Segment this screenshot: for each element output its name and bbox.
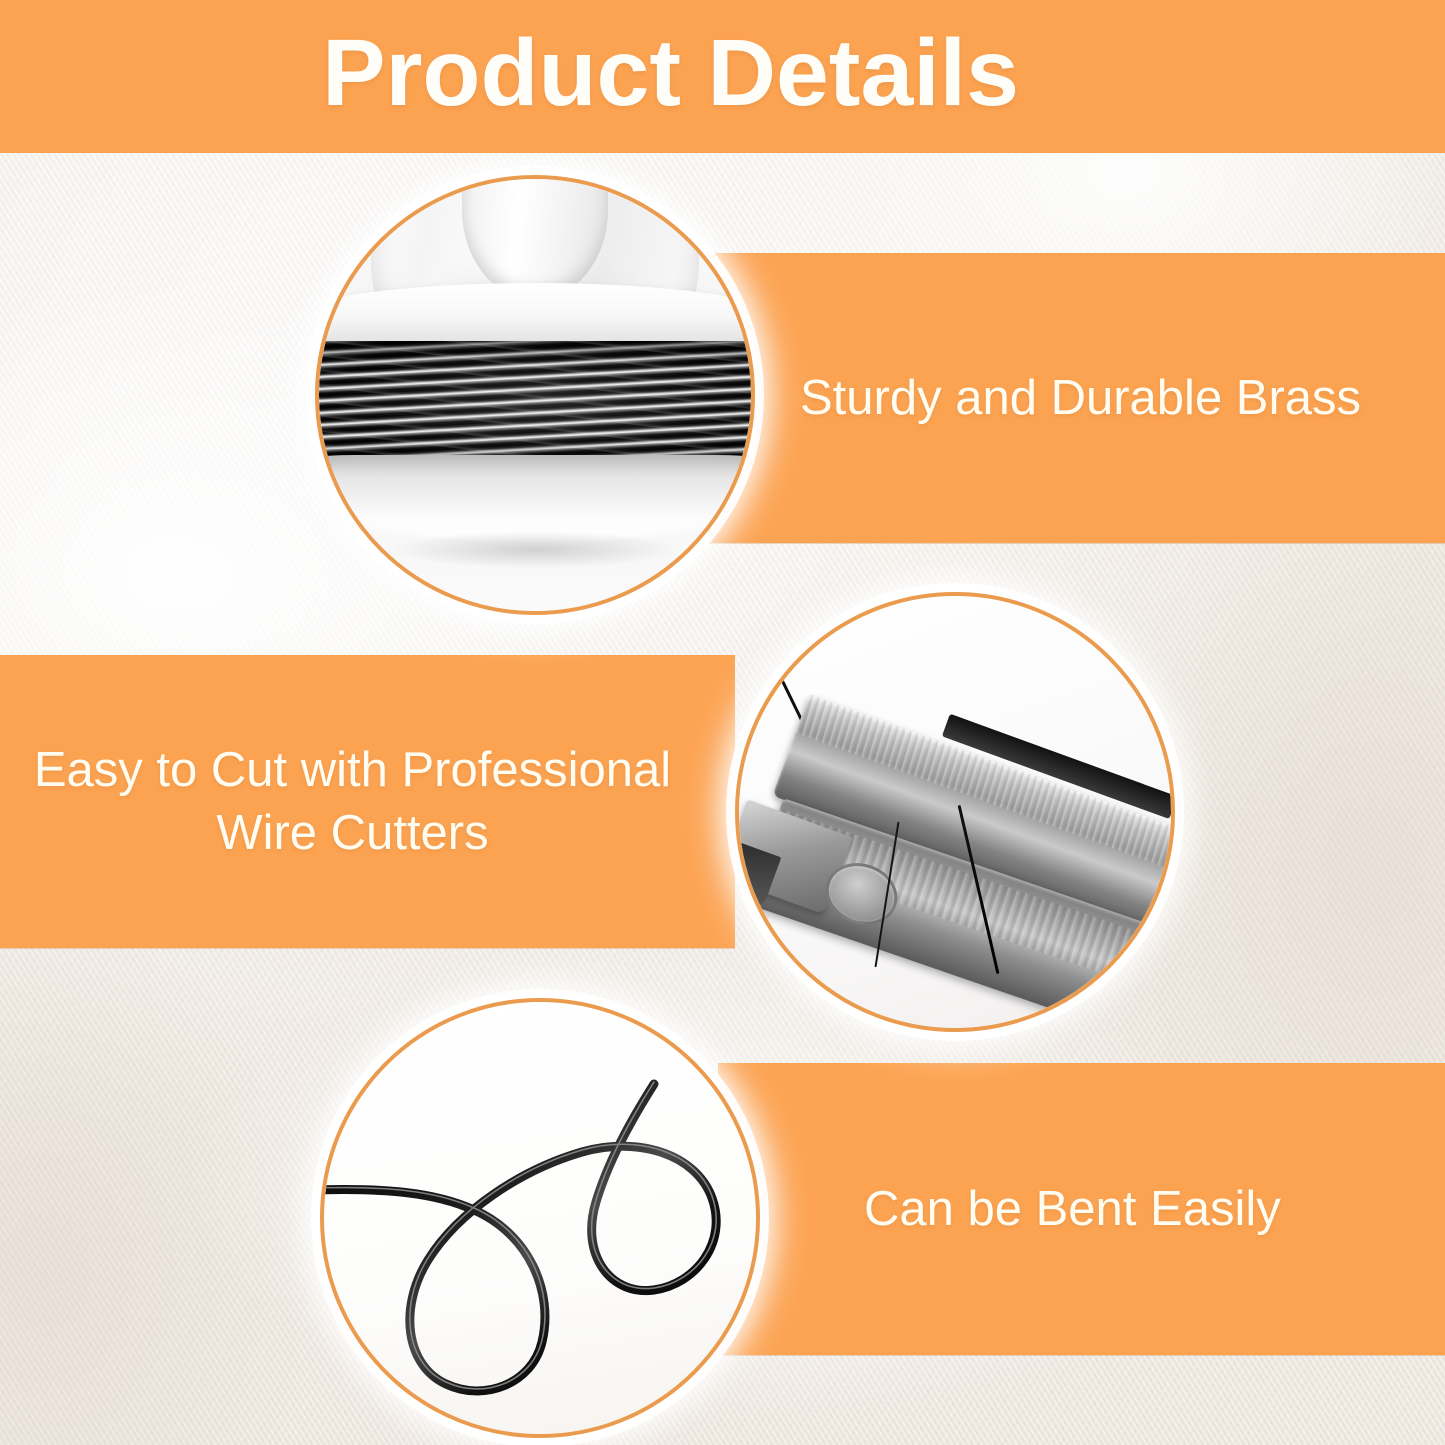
feature-label-easy-to-cut-line1: Easy to Cut with Professional <box>34 739 671 802</box>
feature-banner-bent-easily: Can be Bent Easily <box>718 1063 1445 1355</box>
feature-banner-easy-to-cut: Easy to Cut with Professional Wire Cutte… <box>0 655 735 948</box>
spool-shadow <box>336 529 733 581</box>
feature-image-easy-to-cut <box>735 592 1175 1032</box>
bent-wire-illustration <box>324 1002 756 1434</box>
feature-label-easy-to-cut-line2: Wire Cutters <box>34 802 671 865</box>
feature-label-easy-to-cut: Easy to Cut with Professional Wire Cutte… <box>34 739 671 864</box>
feature-label-sturdy-brass: Sturdy and Durable Brass <box>800 367 1361 430</box>
feature-banner-sturdy-brass: Sturdy and Durable Brass <box>708 253 1445 543</box>
bent-wire-photo <box>324 1002 756 1434</box>
feature-label-bent-easily: Can be Bent Easily <box>864 1178 1281 1241</box>
feature-image-bent-easily <box>320 998 760 1438</box>
feature-image-sturdy-brass <box>315 175 755 615</box>
page-header: Product Details <box>0 0 1445 153</box>
product-details-infographic: Product Details Sturdy and Durable Brass… <box>0 0 1445 1445</box>
wire-cutter-photo <box>739 596 1171 1028</box>
page-title: Product Details <box>322 26 1019 121</box>
wound-wire-coils <box>319 341 751 466</box>
spool-photo <box>319 179 751 611</box>
